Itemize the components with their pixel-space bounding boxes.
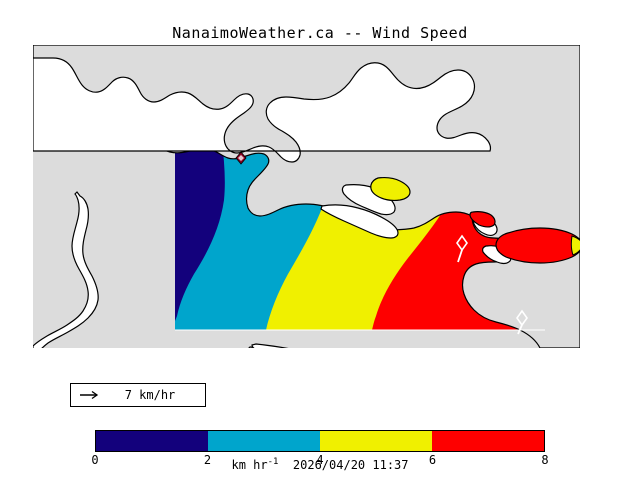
colorbar <box>95 430 545 452</box>
east-island-band <box>496 228 582 263</box>
colorbar-caption: km hr-1 2026/04/20 11:37 <box>0 458 640 472</box>
colorbar-band-0-2 <box>96 431 208 451</box>
colorbar-band-2-4 <box>208 431 320 451</box>
weather-map-page: NanaimoWeather.ca -- Wind Speed <box>0 0 640 480</box>
caption-spacer <box>278 458 292 472</box>
wind-reference-legend: 7 km/hr <box>70 383 206 407</box>
water-south-coast-b <box>252 344 420 393</box>
colorbar-timestamp: 2026/04/20 11:37 <box>293 458 409 472</box>
east-island-tip-yellow <box>571 236 582 255</box>
water-south-coast-a <box>248 347 432 386</box>
colorbar-units: km hr <box>231 458 267 472</box>
colorbar-band-4-6 <box>320 431 432 451</box>
colorbar-container: 0 2 4 6 8 <box>95 430 545 452</box>
wind-reference-label: 7 km/hr <box>71 388 207 402</box>
map-canvas <box>0 0 640 480</box>
colorbar-band-6-8 <box>432 431 544 451</box>
colorbar-units-exponent: -1 <box>268 457 279 467</box>
